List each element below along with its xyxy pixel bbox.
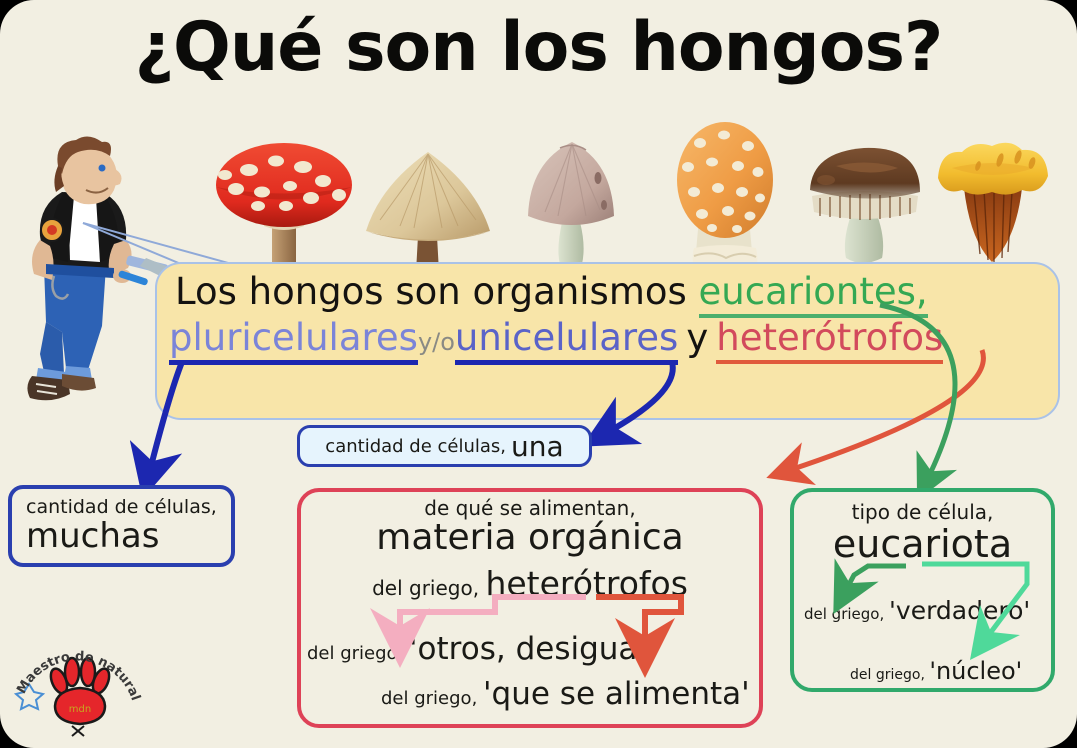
muchas-box-value: muchas [26,516,231,556]
mushroom-orange-amanita [677,122,773,276]
redbox-branch-left: del griego, 'otros, desigual' [307,631,765,667]
redbox-greek-label: del griego, [372,576,479,600]
eucariota-explanation-box: tipo de célula, eucariota del griego, 'v… [790,488,1055,692]
redbox-branch-right-label: del griego, [381,688,477,709]
greenbox-branch-right-label: del griego, [850,667,925,683]
una-box-value: una [511,430,564,463]
redbox-branch-left-label: del griego, [307,643,403,664]
mushroom-fly-agaric-red [216,143,352,276]
greenbox-branch-left: del griego, 'verdadero' [804,596,1030,625]
mushroom-yellow-chanterelle [938,143,1048,262]
greenbox-branch-left-label: del griego, [804,605,884,623]
mushroom-brown-portobello [810,148,920,263]
definition-box: Los hongos son organismos eucariontes, p… [155,262,1060,420]
site-logo: mdn Maestro de naturales [14,626,142,738]
mushroom-beige-parasol [366,152,490,280]
logo-paw-icon: mdn Maestro de naturales [14,626,142,738]
una-box-label: cantidad de células, [325,436,506,457]
page-title: ¿Qué son los hongos? [0,8,1077,87]
muchas-cell-count-box: cantidad de células, muchas [8,485,235,567]
redbox-greek-word: heterótrofos [485,564,687,603]
greenbox-branch-right: del griego, 'núcleo' [850,657,1022,685]
una-cell-count-box: cantidad de células, una [297,425,592,467]
greenbox-branch-right-value: 'núcleo' [929,657,1022,685]
keyword-unicelulares: unicelulares [455,316,678,365]
greenbox-label: tipo de célula, [794,500,1051,524]
heterotrofos-explanation-box: de qué se alimentan, materia orgánica de… [297,488,763,728]
muchas-box-label: cantidad de células, [26,496,231,518]
logo-paw-inner-text: mdn [69,704,91,715]
definition-text-prefix: Los hongos son organismos [175,270,699,313]
definition-line-2: pluricelularesy/ounicelularesyheterótrof… [169,316,1049,359]
redbox-branch-right-value: 'que se alimenta' [483,676,750,712]
keyword-heterotrofos: heterótrofos [716,316,943,364]
greenbox-branch-left-value: 'verdadero' [889,596,1030,625]
conjunction-y: y [678,316,716,359]
cartoon-teacher-with-pointer [10,136,160,404]
redbox-branch-left-value: 'otros, desigual' [409,631,655,667]
conjunction-yo: y/o [418,328,455,356]
redbox-branch-right: del griego, 'que se alimenta' [381,676,839,712]
infographic-page: ¿Qué son los hongos? [0,0,1077,748]
greenbox-value: eucariota [794,522,1051,566]
keyword-pluricelulares: pluricelulares [169,316,418,365]
redbox-value: materia orgánica [301,517,759,558]
keyword-eucariontes: eucariontes, [699,270,928,318]
redbox-greek-line: del griego, heterótrofos [301,564,759,603]
definition-line-1: Los hongos son organismos eucariontes, [175,270,1055,313]
mushroom-pink-bell [528,142,614,268]
